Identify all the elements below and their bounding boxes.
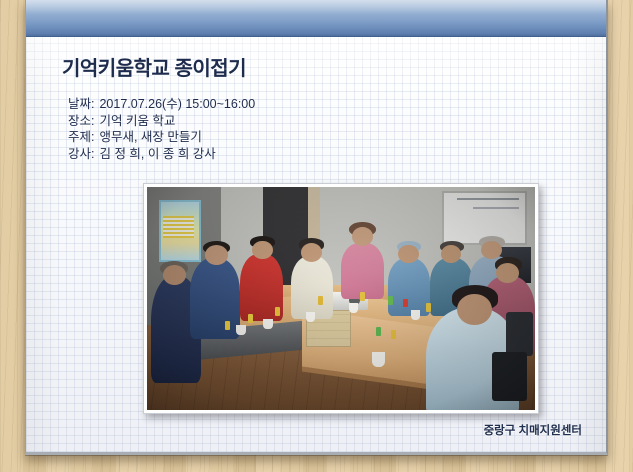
info-row-instructor: 강사:김 정 희, 이 종 희 강사 xyxy=(68,146,255,163)
page-title: 기억키움학교 종이접기 xyxy=(62,52,246,81)
info-value-date: 2017.07.26(수) 15:00~16:00 xyxy=(94,96,255,113)
info-label-place: 장소: xyxy=(68,113,94,130)
info-value-topic: 앵무새, 새장 만들기 xyxy=(94,129,201,146)
presentation-slide: 기억키움학교 종이접기 날짜:2017.07.26(수) 15:00~16:00… xyxy=(25,0,608,455)
slide-header-band xyxy=(26,0,606,37)
info-value-instructor: 김 정 희, 이 종 희 강사 xyxy=(94,146,215,163)
info-label-date: 날짜: xyxy=(68,96,94,113)
photo-frame xyxy=(143,183,539,414)
info-label-topic: 주제: xyxy=(68,129,94,146)
footer-organization: 중랑구 치매지원센터 xyxy=(484,422,582,438)
class-photo-image xyxy=(147,187,535,410)
slide-stage: 기억키움학교 종이접기 날짜:2017.07.26(수) 15:00~16:00… xyxy=(0,0,633,472)
photo-vignette xyxy=(147,187,535,410)
header-band-sheen xyxy=(26,0,606,14)
info-row-date: 날짜:2017.07.26(수) 15:00~16:00 xyxy=(68,96,255,113)
session-info-block: 날짜:2017.07.26(수) 15:00~16:00 장소:기억 키움 학교… xyxy=(68,96,255,162)
info-row-topic: 주제:앵무새, 새장 만들기 xyxy=(68,129,255,146)
info-label-instructor: 강사: xyxy=(68,146,94,163)
info-value-place: 기억 키움 학교 xyxy=(94,113,175,130)
info-row-place: 장소:기억 키움 학교 xyxy=(68,113,255,130)
